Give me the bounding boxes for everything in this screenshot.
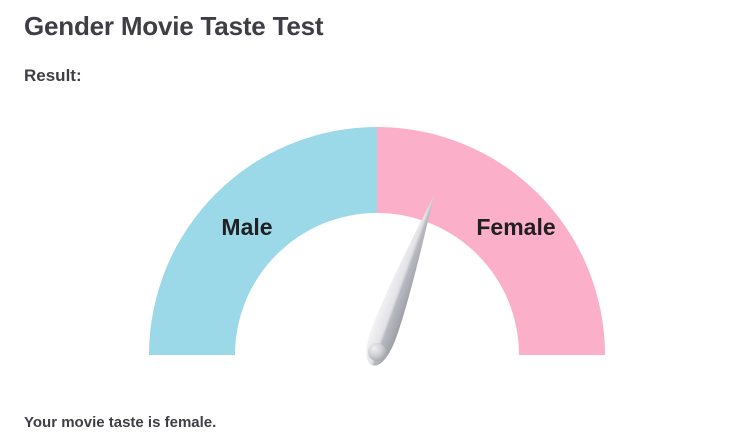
needle-pivot-cap — [368, 343, 386, 361]
gender-movie-taste-test-page: Gender Movie Taste Test Result: — [0, 0, 751, 436]
gauge-svg: Male Female — [0, 100, 751, 380]
gender-gauge-chart: Male Female — [0, 100, 751, 380]
gauge-segment-male — [149, 127, 377, 355]
gauge-label-female: Female — [476, 214, 555, 240]
result-label: Result: — [24, 64, 82, 88]
page-title: Gender Movie Taste Test — [24, 9, 323, 43]
verdict-text: Your movie taste is female. — [24, 412, 216, 434]
gauge-label-male: Male — [221, 214, 272, 240]
